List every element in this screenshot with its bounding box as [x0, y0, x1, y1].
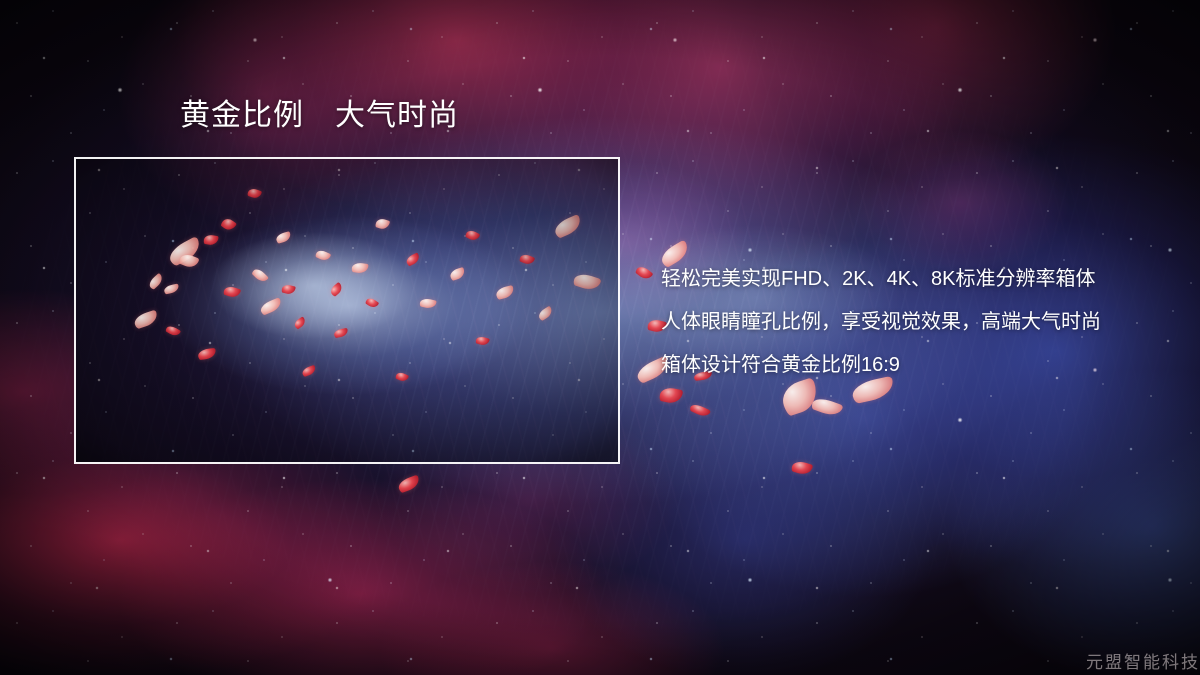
description-line-2: 人体眼睛瞳孔比例，享受视觉效果，高端大气时尚 — [661, 301, 1171, 344]
page-title: 黄金比例 大气时尚 — [180, 101, 459, 131]
description-text-block: 轻松完美实现FHD、2K、4K、8K标准分辨率箱体 人体眼睛瞳孔比例，享受视觉效… — [661, 258, 1171, 387]
petal-shape — [791, 459, 814, 476]
presentation-slide: 黄金比例 大气时尚 轻松完美实现FHD、2K、4K、8K标准分辨率箱体 人体眼睛… — [0, 0, 1200, 675]
petal-shape — [397, 475, 422, 494]
frame-inner-content — [76, 159, 618, 462]
photo-vignette — [76, 159, 618, 462]
petal-shape — [811, 395, 844, 418]
petal-shape — [659, 386, 684, 405]
framed-photo[interactable] — [74, 157, 620, 464]
description-line-3: 箱体设计符合黄金比例16:9 — [661, 344, 1171, 387]
company-watermark: 元盟智能科技 — [1086, 648, 1200, 673]
petal-shape — [689, 402, 711, 419]
description-line-1: 轻松完美实现FHD、2K、4K、8K标准分辨率箱体 — [661, 258, 1171, 301]
petal-shape — [635, 264, 654, 282]
